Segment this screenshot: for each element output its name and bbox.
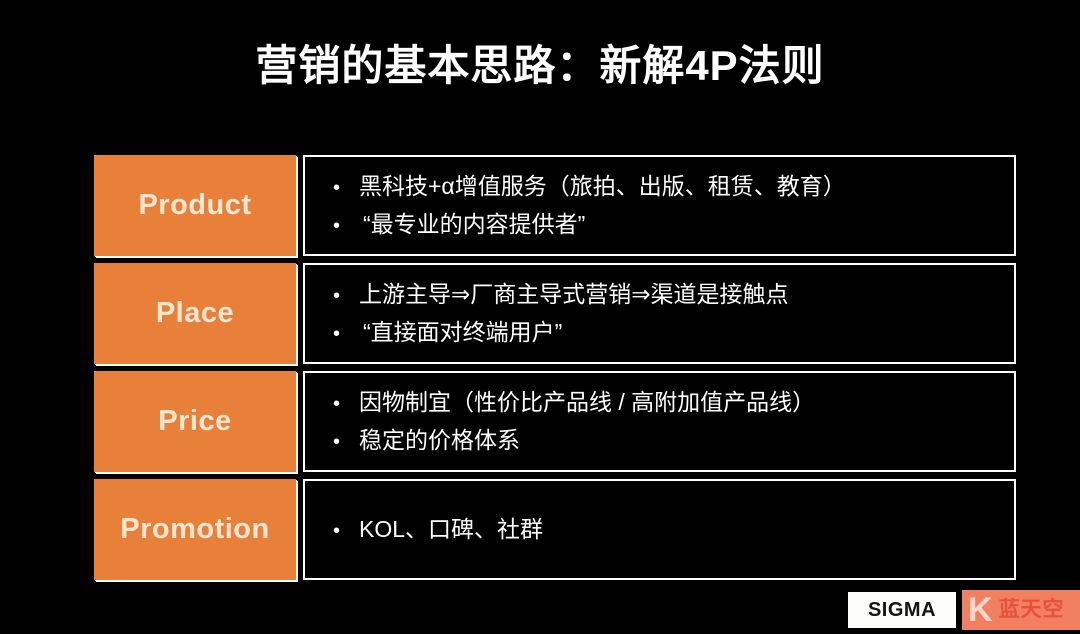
list-item-text: 黑科技+α增值服务（旅拍、出版、租赁、教育）: [359, 168, 846, 204]
bullet-icon: •: [333, 513, 359, 549]
bullet-icon: •: [333, 386, 359, 422]
sigma-logo-text: SIGMA: [868, 599, 936, 622]
list-item-text: 上游主导⇒厂商主导式营销⇒渠道是接触点: [359, 276, 789, 312]
bullet-icon: •: [333, 278, 359, 314]
list-item: • “直接面对终端用户”: [333, 314, 1014, 352]
bullet-icon: •: [333, 208, 359, 244]
lantiankong-k-mark: K: [964, 593, 999, 627]
list-item: • KOL、口碑、社群: [333, 511, 1014, 549]
row-label-text: Product: [138, 189, 251, 222]
list-item: • 稳定的价格体系: [333, 422, 1014, 460]
table-row: Place • 上游主导⇒厂商主导式营销⇒渠道是接触点 • “直接面对终端用户”: [94, 263, 1016, 364]
row-label-text: Promotion: [120, 513, 270, 546]
row-content-place: • 上游主导⇒厂商主导式营销⇒渠道是接触点 • “直接面对终端用户”: [303, 263, 1016, 364]
bullet-icon: •: [333, 424, 359, 460]
row-label-price[interactable]: Price: [94, 371, 296, 472]
bullet-icon: •: [333, 316, 359, 352]
list-item-text: KOL、口碑、社群: [359, 511, 543, 547]
row-label-place[interactable]: Place: [94, 263, 296, 364]
page-title: 营销的基本思路：新解4P法则: [0, 38, 1080, 94]
lantiankong-watermark: K 蓝天空: [962, 590, 1080, 630]
row-label-promotion[interactable]: Promotion: [94, 479, 296, 580]
list-item: • 因物制宜（性价比产品线 / 高附加值产品线）: [333, 384, 1014, 422]
list-item-text: 因物制宜（性价比产品线 / 高附加值产品线）: [359, 384, 815, 420]
row-content-price: • 因物制宜（性价比产品线 / 高附加值产品线） • 稳定的价格体系: [303, 371, 1016, 472]
list-item: • “最专业的内容提供者”: [333, 206, 1014, 244]
row-label-text: Place: [156, 297, 234, 330]
slide-canvas: 营销的基本思路：新解4P法则 Product • 黑科技+α增值服务（旅拍、出版…: [0, 0, 1080, 634]
row-content-promotion: • KOL、口碑、社群: [303, 479, 1016, 580]
list-item-text: “直接面对终端用户”: [359, 314, 562, 350]
row-label-text: Price: [158, 405, 231, 438]
logo-strip: SIGMA K 蓝天空: [848, 590, 1080, 634]
table-row: Product • 黑科技+α增值服务（旅拍、出版、租赁、教育） • “最专业的…: [94, 155, 1016, 256]
table-row: Price • 因物制宜（性价比产品线 / 高附加值产品线） • 稳定的价格体系: [94, 371, 1016, 472]
lantiankong-logo-text: 蓝天空: [999, 598, 1065, 622]
list-item-text: 稳定的价格体系: [359, 422, 520, 458]
four-p-table: Product • 黑科技+α增值服务（旅拍、出版、租赁、教育） • “最专业的…: [94, 155, 1016, 587]
list-item: • 黑科技+α增值服务（旅拍、出版、租赁、教育）: [333, 168, 1014, 206]
bullet-icon: •: [333, 170, 359, 206]
table-row: Promotion • KOL、口碑、社群: [94, 479, 1016, 580]
row-label-product[interactable]: Product: [94, 155, 296, 256]
list-item-text: “最专业的内容提供者”: [359, 206, 585, 242]
sigma-logo: SIGMA: [848, 592, 956, 628]
list-item: • 上游主导⇒厂商主导式营销⇒渠道是接触点: [333, 276, 1014, 314]
row-content-product: • 黑科技+α增值服务（旅拍、出版、租赁、教育） • “最专业的内容提供者”: [303, 155, 1016, 256]
